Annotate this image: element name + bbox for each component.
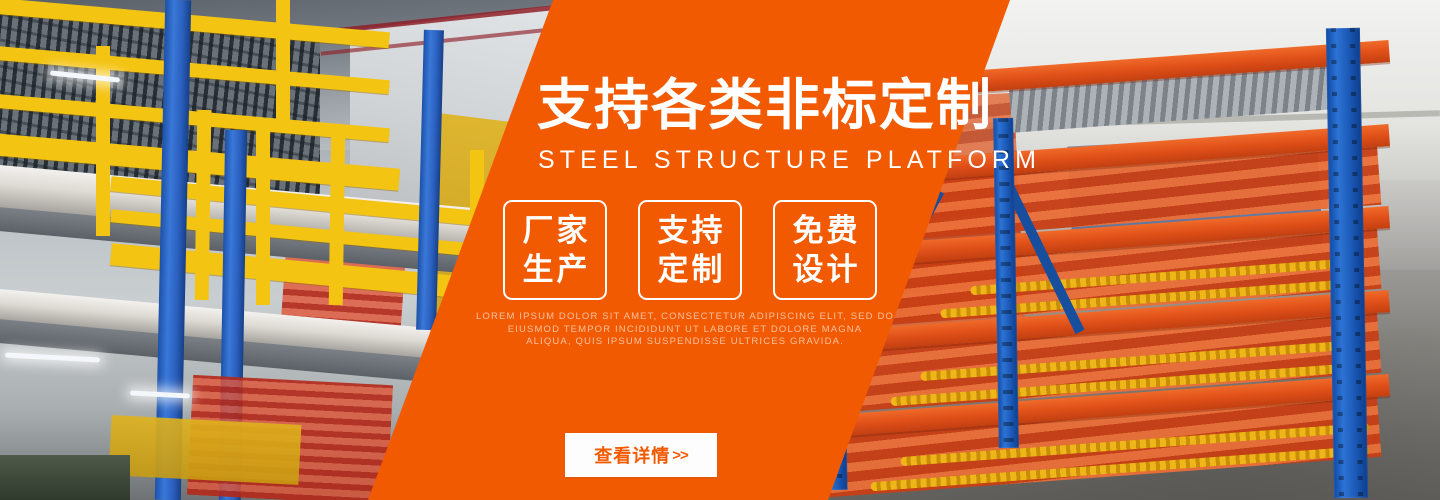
feature-box-line1: 免费 — [790, 211, 861, 250]
feature-box-line2: 生产 — [520, 250, 591, 289]
feature-box-line2: 定制 — [655, 250, 726, 289]
lorem-line-3: ALIQUA, QUIS IPSUM SUSPENDISSE ULTRICES … — [425, 336, 945, 349]
view-details-button[interactable]: 查看详情 >> — [565, 433, 717, 477]
feature-box-line2: 设计 — [790, 250, 861, 289]
feature-box-list: 厂家 生产 支持 定制 免费 设计 — [503, 200, 877, 300]
promo-banner: 支持各类非标定制 STEEL STRUCTURE PLATFORM 厂家 生产 … — [0, 0, 1440, 500]
banner-content: 支持各类非标定制 STEEL STRUCTURE PLATFORM 厂家 生产 … — [0, 0, 1440, 500]
lorem-paragraph: LOREM IPSUM DOLOR SIT AMET, CONSECTETUR … — [425, 311, 945, 349]
lorem-line-1: LOREM IPSUM DOLOR SIT AMET, CONSECTETUR … — [425, 311, 945, 324]
feature-box-line1: 厂家 — [520, 211, 591, 250]
feature-box-free-design: 免费 设计 — [773, 200, 877, 300]
subtitle: STEEL STRUCTURE PLATFORM — [538, 145, 1041, 175]
feature-box-manufacturer: 厂家 生产 — [503, 200, 607, 300]
feature-box-line1: 支持 — [655, 211, 726, 250]
page-title: 支持各类非标定制 — [537, 74, 993, 136]
lorem-line-2: EIUSMOD TEMPOR INCIDIDUNT UT LABORE ET D… — [425, 324, 945, 337]
view-details-label: 查看详情 — [594, 442, 670, 468]
double-chevron-right-icon: >> — [672, 447, 688, 464]
feature-box-customization: 支持 定制 — [638, 200, 742, 300]
